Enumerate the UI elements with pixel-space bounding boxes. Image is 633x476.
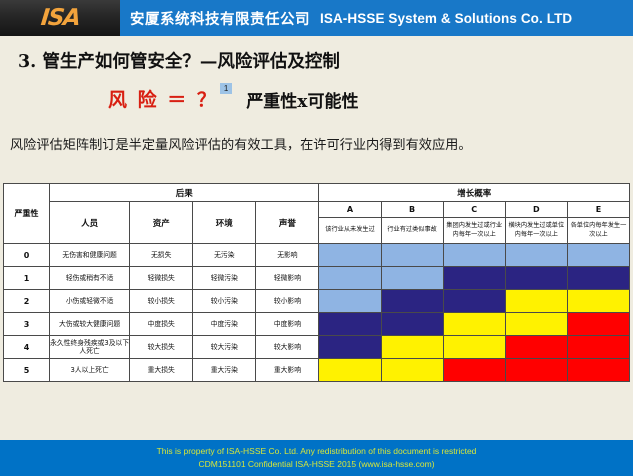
isa-logo: ISA — [0, 0, 120, 36]
consequence-asset-2: 较小损失 — [130, 290, 193, 313]
header-consequence-reputation: 声誉 — [256, 202, 319, 244]
risk-cell-4D — [505, 336, 567, 359]
footer-line-1: This is property of ISA-HSSE Co. Ltd. An… — [157, 445, 477, 458]
risk-cell-2D — [505, 290, 567, 313]
risk-cell-5C — [443, 359, 505, 382]
matrix-row: 1轻伤或稍有不适轻微损失轻微污染轻微影响 — [4, 267, 630, 290]
consequence-environment-4: 较大污染 — [193, 336, 256, 359]
risk-cell-0A — [319, 244, 381, 267]
risk-matrix-container: 严重性 后果 增长概率 人员 资产 环境 声誉 A B C D E 该行业从未发… — [3, 183, 630, 382]
consequence-personnel-5: 3人以上死亡 — [50, 359, 130, 382]
severity-level-2: 2 — [4, 290, 50, 313]
consequence-reputation-3: 中度影响 — [256, 313, 319, 336]
matrix-row: 3大伤或较大健康问题中度损失中度污染中度影响 — [4, 313, 630, 336]
risk-cell-1A — [319, 267, 381, 290]
header-consequence-environment: 环境 — [193, 202, 256, 244]
severity-level-5: 5 — [4, 359, 50, 382]
risk-cell-5D — [505, 359, 567, 382]
consequence-environment-1: 轻微污染 — [193, 267, 256, 290]
header-probability-c: C — [443, 202, 505, 218]
risk-cell-5A — [319, 359, 381, 382]
consequence-personnel-4: 永久性终身残疾或3及以下人死亡 — [50, 336, 130, 359]
company-name-en: ISA-HSSE System & Solutions Co. LTD — [320, 11, 572, 26]
risk-cell-0D — [505, 244, 567, 267]
logo-text: ISA — [39, 5, 80, 31]
page-footer: This is property of ISA-HSSE Co. Ltd. An… — [0, 440, 633, 476]
risk-cell-3B — [381, 313, 443, 336]
consequence-reputation-0: 无影响 — [256, 244, 319, 267]
consequence-asset-4: 较大损失 — [130, 336, 193, 359]
risk-cell-4E — [567, 336, 629, 359]
consequence-environment-2: 较小污染 — [193, 290, 256, 313]
description-paragraph: 风险评估矩阵制订是半定量风险评估的有效工具，在许可行业内得到有效应用。 — [10, 134, 623, 153]
consequence-personnel-2: 小伤或轻微不适 — [50, 290, 130, 313]
matrix-body: 0无伤害和健康问题无损失无污染无影响1轻伤或稍有不适轻微损失轻微污染轻微影响2小… — [4, 244, 630, 382]
risk-cell-3A — [319, 313, 381, 336]
header-probability: 增长概率 — [319, 184, 630, 202]
footer-line-2: CDM151101 Confidential ISA-HSSE 2015 (ww… — [198, 458, 434, 471]
header-titles: 安厦系统科技有限责任公司 ISA-HSSE System & Solutions… — [120, 8, 633, 29]
consequence-environment-3: 中度污染 — [193, 313, 256, 336]
matrix-row: 4永久性终身残疾或3及以下人死亡较大损失较大污染较大影响 — [4, 336, 630, 359]
matrix-subheader-row: 人员 资产 环境 声誉 A B C D E — [4, 202, 630, 218]
probability-desc-e: 各单位内每年发生一次以上 — [567, 218, 629, 244]
matrix-group-header-row: 严重性 后果 增长概率 — [4, 184, 630, 202]
risk-cell-3D — [505, 313, 567, 336]
risk-cell-1D — [505, 267, 567, 290]
consequence-environment-0: 无污染 — [193, 244, 256, 267]
consequence-reputation-4: 较大影响 — [256, 336, 319, 359]
consequence-personnel-3: 大伤或较大健康问题 — [50, 313, 130, 336]
header-probability-d: D — [505, 202, 567, 218]
risk-cell-0C — [443, 244, 505, 267]
matrix-row: 2小伤或轻微不适较小损失较小污染较小影响 — [4, 290, 630, 313]
consequence-environment-5: 重大污染 — [193, 359, 256, 382]
risk-cell-3C — [443, 313, 505, 336]
consequence-reputation-1: 轻微影响 — [256, 267, 319, 290]
header-consequence: 后果 — [50, 184, 319, 202]
consequence-asset-3: 中度损失 — [130, 313, 193, 336]
header-severity: 严重性 — [4, 184, 50, 244]
risk-cell-1E — [567, 267, 629, 290]
slide-body: 3. 管生产如何管安全？—风险评估及控制 风 险 ＝ ？ 1 严重性x可能性 风… — [0, 36, 633, 440]
severity-level-0: 0 — [4, 244, 50, 267]
severity-level-3: 3 — [4, 313, 50, 336]
risk-cell-2A — [319, 290, 381, 313]
risk-matrix-table: 严重性 后果 增长概率 人员 资产 环境 声誉 A B C D E 该行业从未发… — [3, 183, 630, 382]
probability-desc-a: 该行业从未发生过 — [319, 218, 381, 244]
probability-desc-d: 横块内发生过或单位内每年一次以上 — [505, 218, 567, 244]
consequence-reputation-2: 较小影响 — [256, 290, 319, 313]
severity-level-1: 1 — [4, 267, 50, 290]
app-header: ISA 安厦系统科技有限责任公司 ISA-HSSE System & Solut… — [0, 0, 633, 36]
probability-desc-c: 集团内发生过或行业内每年一次以上 — [443, 218, 505, 244]
risk-cell-2B — [381, 290, 443, 313]
risk-cell-4B — [381, 336, 443, 359]
risk-cell-4C — [443, 336, 505, 359]
consequence-asset-1: 轻微损失 — [130, 267, 193, 290]
header-probability-b: B — [381, 202, 443, 218]
consequence-asset-5: 重大损失 — [130, 359, 193, 382]
header-consequence-asset: 资产 — [130, 202, 193, 244]
risk-cell-0E — [567, 244, 629, 267]
risk-cell-3E — [567, 313, 629, 336]
matrix-head: 严重性 后果 增长概率 人员 资产 环境 声誉 A B C D E 该行业从未发… — [4, 184, 630, 244]
severity-level-4: 4 — [4, 336, 50, 359]
consequence-asset-0: 无损失 — [130, 244, 193, 267]
page-title: 3. 管生产如何管安全？—风险评估及控制 — [18, 48, 340, 73]
risk-cell-5B — [381, 359, 443, 382]
footnote-marker: 1 — [220, 83, 232, 94]
matrix-row: 0无伤害和健康问题无损失无污染无影响 — [4, 244, 630, 267]
risk-cell-2E — [567, 290, 629, 313]
header-probability-e: E — [567, 202, 629, 218]
risk-cell-2C — [443, 290, 505, 313]
risk-cell-5E — [567, 359, 629, 382]
header-probability-a: A — [319, 202, 381, 218]
matrix-row: 53人以上死亡重大损失重大污染重大影响 — [4, 359, 630, 382]
risk-cell-0B — [381, 244, 443, 267]
company-name-cn: 安厦系统科技有限责任公司 — [130, 8, 310, 29]
consequence-personnel-0: 无伤害和健康问题 — [50, 244, 130, 267]
formula-question: 风 险 ＝ ？ — [108, 85, 218, 112]
consequence-reputation-5: 重大影响 — [256, 359, 319, 382]
header-consequence-personnel: 人员 — [50, 202, 130, 244]
risk-cell-4A — [319, 336, 381, 359]
risk-formula: 风 险 ＝ ？ 1 严重性x可能性 — [108, 85, 358, 112]
risk-cell-1C — [443, 267, 505, 290]
probability-desc-b: 行业有过类似事故 — [381, 218, 443, 244]
risk-cell-1B — [381, 267, 443, 290]
consequence-personnel-1: 轻伤或稍有不适 — [50, 267, 130, 290]
formula-answer: 严重性x可能性 — [246, 87, 358, 112]
